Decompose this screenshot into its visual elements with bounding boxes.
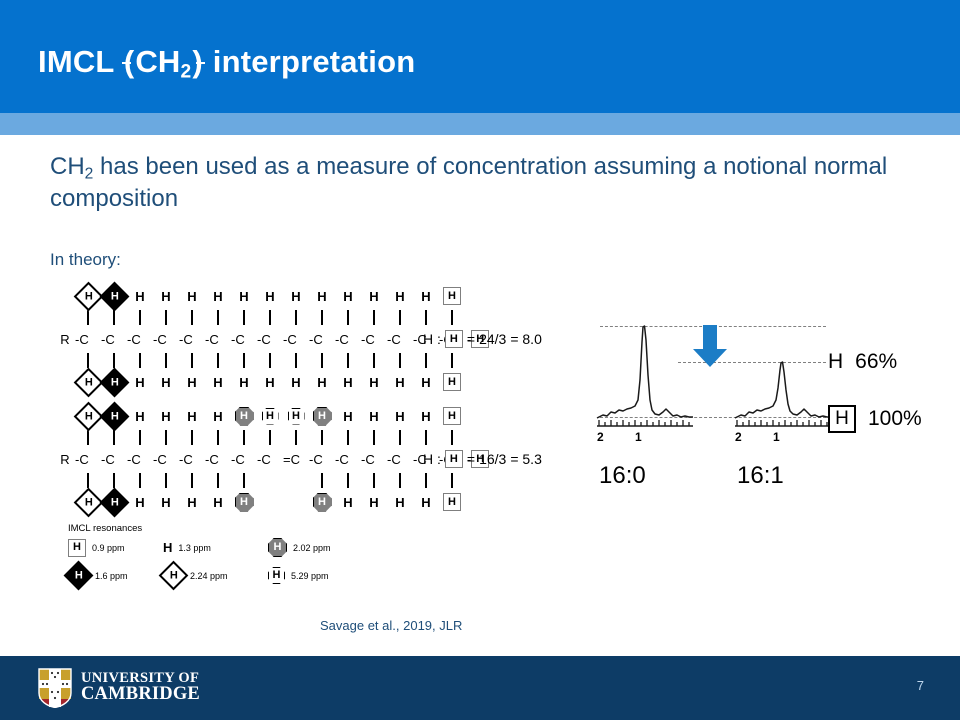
chain-bottom-hydrogen: H <box>361 489 387 515</box>
chain-top-hydrogen <box>75 403 101 429</box>
legend-item-label: 1.6 ppm <box>95 571 128 581</box>
chain-top-hydrogen: H <box>257 283 283 309</box>
chain-carbon: -C <box>153 326 179 352</box>
chain-vertical-bond <box>257 309 283 326</box>
chain-bottom-hydrogen: H <box>153 489 179 515</box>
legend-item: H0.9 ppm <box>68 538 163 557</box>
chain-carbon: -C <box>309 326 335 352</box>
chain-top-hydrogen: H <box>231 403 257 429</box>
h-marker-filled-diamond-icon <box>99 487 129 517</box>
molecule-figure: HHHHHHHHHHHHH R-C-C-C-C-C-C-C-C-C-C-C-C-… <box>55 283 555 513</box>
chain-r-group: R <box>55 446 75 472</box>
spectrum-trace-16-0 <box>595 320 695 438</box>
ratio-fraction: 16/3 <box>479 451 506 467</box>
chain-bottom-hydrogen <box>283 489 309 515</box>
h-marker-plain-icon: H <box>135 290 144 303</box>
h-marker-box-icon: H <box>828 405 856 433</box>
chain-vertical-bond <box>179 309 205 326</box>
h-marker-open-octagon-icon: H <box>288 408 305 425</box>
h-marker-plain-icon: H <box>213 410 222 423</box>
chain-top-hydrogen <box>101 403 127 429</box>
in-theory-label: In theory: <box>50 250 121 270</box>
chain-vertical-bond <box>413 352 439 369</box>
chain-bottom-hydrogen: H <box>179 369 205 395</box>
spectrum-trace-16-1 <box>733 320 833 438</box>
chain-top-hydrogen: H <box>413 403 439 429</box>
spectrum-16-0-tick-1: 1 <box>635 430 642 444</box>
h-marker-plain-icon: H <box>343 376 352 389</box>
h-marker-plain-icon: H <box>828 350 843 374</box>
chain-top-hydrogen: H <box>153 283 179 309</box>
h-marker-gray-octagon-icon: H <box>235 493 254 512</box>
imcl-resonances-legend: IMCL resonances H0.9 ppmH1.3 ppmH2.02 pp… <box>68 523 368 586</box>
h-marker-open-octagon-icon: H <box>268 567 285 584</box>
chain-vertical-bond <box>231 309 257 326</box>
chain-carbon: -C <box>127 446 153 472</box>
legend-item-label: 2.02 ppm <box>293 543 331 553</box>
university-line-2: CAMBRIDGE <box>81 686 200 704</box>
h-marker-plain-icon: H <box>187 410 196 423</box>
repeat-unit-open-paren: ( <box>123 44 136 80</box>
chain-bottom-hydrogen: H <box>127 489 153 515</box>
chain-r-group: R <box>55 326 75 352</box>
chain-bottom-hydrogen <box>75 489 101 515</box>
chain-vertical-bond <box>127 429 153 446</box>
h-marker-plain-icon: H <box>213 376 222 389</box>
h-marker-gray-octagon-icon: H <box>313 493 332 512</box>
chain-bottom-hydrogen: H <box>257 369 283 395</box>
chain-vertical-bond <box>153 472 179 489</box>
chain-carbon: -C <box>231 326 257 352</box>
chain-vertical-bond <box>283 472 309 489</box>
chain-vertical-bond <box>387 352 413 369</box>
chain-vertical-bond <box>283 429 309 446</box>
chain-carbon: -C <box>361 446 387 472</box>
annotation-66-percent: H 66% <box>828 350 897 374</box>
header-accent-band <box>0 113 960 135</box>
h-marker-plain-icon: H <box>213 496 222 509</box>
chain-top-hydrogen: H <box>231 283 257 309</box>
chain-vertical-bond <box>309 472 335 489</box>
legend-item: H5.29 ppm <box>268 565 368 586</box>
chain-bottom-hydrogen: H <box>309 369 335 395</box>
h-marker-plain-icon: H <box>291 290 300 303</box>
chain-bottom-hydrogen: H <box>153 369 179 395</box>
h-marker-plain-icon: H <box>265 290 274 303</box>
legend-item-label: 1.3 ppm <box>178 543 211 553</box>
chain-top-hydrogen: H <box>179 403 205 429</box>
chain2-top-hydrogens: HHHHHHHHHHHHH <box>55 403 491 429</box>
spectrum-16-0-label: 16:0 <box>599 462 646 490</box>
chain-vertical-bond <box>257 352 283 369</box>
chain-bottom-hydrogen: H <box>387 369 413 395</box>
chain-carbon: -C <box>361 326 387 352</box>
chain-vertical-bond <box>205 472 231 489</box>
h-marker-plain-icon: H <box>395 290 404 303</box>
chain-vertical-bond <box>387 309 413 326</box>
chain-vertical-bond <box>127 352 153 369</box>
annotation-100-value: 100% <box>868 407 922 431</box>
chain-top-hydrogen: H <box>283 283 309 309</box>
chain-bottom-hydrogen: H <box>283 369 309 395</box>
chain-carbon: -C <box>387 446 413 472</box>
legend-title: IMCL resonances <box>68 523 368 534</box>
h-marker-box-icon: H <box>443 287 461 305</box>
chain-bottom-hydrogen: H <box>387 489 413 515</box>
title-subscript: 2 <box>181 61 192 82</box>
chain-top-hydrogen: H <box>439 283 465 309</box>
h-marker-plain-icon: H <box>135 410 144 423</box>
chain-carbon: -C <box>257 446 283 472</box>
chain-vertical-bond <box>387 429 413 446</box>
h-marker-box-icon: H <box>443 493 461 511</box>
annotation-66-value: 66% <box>855 350 897 374</box>
chain-carbon: -C <box>153 446 179 472</box>
h-marker-gray-octagon-icon: H <box>268 538 287 557</box>
chain-vertical-bond <box>179 352 205 369</box>
chain-vertical-bond <box>335 352 361 369</box>
h-marker-filled-diamond-icon <box>99 401 129 431</box>
chain-carbon: -C <box>101 326 127 352</box>
ratio-fraction: 24/3 <box>479 331 506 347</box>
chain-vertical-bond <box>309 309 335 326</box>
chain-top-hydrogen: H <box>361 283 387 309</box>
h-marker-plain-icon: H <box>163 541 172 554</box>
citation: Savage et al., 2019, JLR <box>320 618 462 633</box>
chain2-bottom-hydrogens: HHHHHHHHHHH <box>55 489 491 515</box>
chain-bottom-hydrogen: H <box>335 369 361 395</box>
chain-bottom-hydrogen: H <box>439 369 465 395</box>
h-marker-gray-octagon-icon: H <box>313 407 332 426</box>
legend-item: 1.6 ppm <box>68 565 163 586</box>
h-marker-plain-icon: H <box>239 290 248 303</box>
h-marker-plain-icon: H <box>421 496 430 509</box>
chain-bottom-hydrogen <box>257 489 283 515</box>
chain-bottom-hydrogen: H <box>439 489 465 515</box>
chain-bottom-hydrogen: H <box>205 369 231 395</box>
chain-vertical-bond <box>413 472 439 489</box>
h-marker-plain-icon: H <box>317 376 326 389</box>
chain-top-hydrogen <box>75 283 101 309</box>
slide: IMCL (CH2) interpretation CH2 has been u… <box>0 0 960 720</box>
h-marker-plain-icon: H <box>161 496 170 509</box>
chain-top-hydrogen: H <box>335 283 361 309</box>
chain-vertical-bond <box>361 472 387 489</box>
cambridge-crest-icon <box>38 668 72 708</box>
chain-top-hydrogen: H <box>283 403 309 429</box>
chain-carbon: -C <box>101 446 127 472</box>
chain-top-hydrogen: H <box>153 403 179 429</box>
h-marker-plain-icon: H <box>187 290 196 303</box>
h-marker-plain-icon: H <box>395 496 404 509</box>
page-number: 7 <box>917 678 924 693</box>
h-marker-box-icon: H <box>68 539 86 557</box>
university-wordmark: UNIVERSITY OF CAMBRIDGE <box>81 672 200 704</box>
chain-bottom-hydrogen: H <box>335 489 361 515</box>
body-statement: CH2 has been used as a measure of concen… <box>50 152 900 215</box>
spectrum-16-1-label: 16:1 <box>737 462 784 490</box>
legend-grid: H0.9 ppmH1.3 ppmH2.02 ppm1.6 ppm2.24 ppm… <box>68 538 368 586</box>
h-marker-plain-icon: H <box>161 410 170 423</box>
spectrum-16-0-tick-2: 2 <box>597 430 604 444</box>
chain-carbon: -C <box>205 326 231 352</box>
chain-vertical-bond <box>205 429 231 446</box>
chain-bottom-hydrogen: H <box>413 369 439 395</box>
chain-vertical-bond <box>127 309 153 326</box>
chain-vertical-bond <box>439 352 465 369</box>
h-marker-plain-icon: H <box>369 410 378 423</box>
ratio-saturated: H : H = 24/3 = 8.0 <box>423 330 542 348</box>
title-prefix: IMCL <box>38 44 123 79</box>
legend-item-label: 5.29 ppm <box>291 571 329 581</box>
chain-carbon: -C <box>335 326 361 352</box>
spectra-figure: 2 1 16:0 2 1 16:1 H 66% H <box>585 312 955 512</box>
legend-item: 2.24 ppm <box>163 565 268 586</box>
h-marker-filled-diamond-icon <box>99 281 129 311</box>
body-lead-rest: has been used as a measure of concentrat… <box>50 153 887 212</box>
chain-vertical-bond <box>231 352 257 369</box>
chain-vertical-bond <box>153 429 179 446</box>
h-marker-gray-octagon-icon: H <box>235 407 254 426</box>
chain-vertical-bond <box>439 472 465 489</box>
chain-bottom-hydrogen: H <box>231 489 257 515</box>
chain-top-hydrogen <box>101 283 127 309</box>
ratio-result: = 5.3 <box>510 451 542 467</box>
h-marker-plain-icon: H <box>161 290 170 303</box>
university-logo: UNIVERSITY OF CAMBRIDGE <box>38 668 200 708</box>
chain-vertical-bond <box>283 352 309 369</box>
chain1-bottom-hydrogens: HHHHHHHHHHHHH <box>55 369 491 395</box>
h-marker-box-icon: H <box>445 450 463 468</box>
chain-carbon: -C <box>387 326 413 352</box>
h-marker-box-icon: H <box>445 330 463 348</box>
h-marker-plain-icon: H <box>161 376 170 389</box>
chain-top-hydrogen: H <box>335 403 361 429</box>
chain-top-hydrogen: H <box>439 403 465 429</box>
ratio-result: = 8.0 <box>510 331 542 347</box>
ratio-prefix: H : <box>423 451 441 467</box>
chain-vertical-bond <box>439 429 465 446</box>
ratio-equals: = <box>467 451 475 467</box>
chain-carbon: -C <box>75 446 101 472</box>
chain-vertical-bond <box>335 309 361 326</box>
chain-bottom-hydrogen <box>101 489 127 515</box>
chain-vertical-bond <box>309 429 335 446</box>
chain-vertical-bond <box>205 309 231 326</box>
ratio-equals: = <box>467 331 475 347</box>
chain-vertical-bond <box>179 429 205 446</box>
h-marker-plain-icon: H <box>369 290 378 303</box>
chain-top-hydrogen: H <box>361 403 387 429</box>
legend-item: H2.02 ppm <box>268 538 368 557</box>
ratio-unsaturated: H : H = 16/3 = 5.3 <box>423 450 542 468</box>
h-marker-plain-icon: H <box>135 496 144 509</box>
h-marker-plain-icon: H <box>187 496 196 509</box>
h-marker-plain-icon: H <box>421 290 430 303</box>
chain-vertical-bond <box>127 472 153 489</box>
chain-top-hydrogen: H <box>257 403 283 429</box>
annotation-100-percent: H 100% <box>828 405 922 433</box>
h-marker-filled-diamond-icon <box>64 561 94 591</box>
chain-top-hydrogen: H <box>205 283 231 309</box>
chain-carbon: -C <box>127 326 153 352</box>
chain-vertical-bond <box>361 352 387 369</box>
chain-bottom-hydrogen: H <box>179 489 205 515</box>
chain-vertical-bond <box>231 429 257 446</box>
chain-carbon: -C <box>231 446 257 472</box>
chain2-bottom-bonds <box>55 472 491 489</box>
title-group: CH <box>135 44 180 79</box>
chain-vertical-bond <box>153 309 179 326</box>
h-marker-plain-icon: H <box>343 410 352 423</box>
h-marker-plain-icon: H <box>239 376 248 389</box>
chain-carbon: -C <box>283 326 309 352</box>
chain-carbon: -C <box>335 446 361 472</box>
chain-carbon: -C <box>75 326 101 352</box>
spectrum-16-1-tick-1: 1 <box>773 430 780 444</box>
chain-vertical-bond <box>257 429 283 446</box>
h-marker-plain-icon: H <box>291 376 300 389</box>
chain-vertical-bond <box>361 309 387 326</box>
h-marker-plain-icon: H <box>421 410 430 423</box>
chain-carbon: -C <box>179 446 205 472</box>
chain-vertical-bond <box>413 429 439 446</box>
chain-bottom-hydrogen: H <box>127 369 153 395</box>
chain-vertical-bond <box>335 472 361 489</box>
h-marker-plain-icon: H <box>369 496 378 509</box>
chain-vertical-bond <box>205 352 231 369</box>
h-marker-plain-icon: H <box>395 410 404 423</box>
chain-carbon: -C <box>257 326 283 352</box>
legend-item: H1.3 ppm <box>163 538 268 557</box>
h-marker-plain-icon: H <box>395 376 404 389</box>
legend-item-label: 0.9 ppm <box>92 543 125 553</box>
chain-bottom-hydrogen <box>75 369 101 395</box>
h-marker-plain-icon: H <box>369 376 378 389</box>
body-lead-prefix: CH <box>50 153 85 180</box>
chain-bottom-hydrogen: H <box>231 369 257 395</box>
chain-vertical-bond <box>231 472 257 489</box>
chain-vertical-bond <box>387 472 413 489</box>
chain-bottom-hydrogen: H <box>361 369 387 395</box>
chain-carbon: =C <box>283 446 309 472</box>
chain-vertical-bond <box>153 352 179 369</box>
chain-bottom-hydrogen: H <box>413 489 439 515</box>
h-marker-open-diamond-icon <box>159 561 189 591</box>
h-marker-plain-icon: H <box>187 376 196 389</box>
chain-carbon: -C <box>309 446 335 472</box>
chain-vertical-bond <box>439 309 465 326</box>
h-marker-open-octagon-icon: H <box>262 408 279 425</box>
h-marker-plain-icon: H <box>317 290 326 303</box>
chain-vertical-bond <box>413 309 439 326</box>
h-marker-plain-icon: H <box>343 496 352 509</box>
chain-vertical-bond <box>283 309 309 326</box>
chain-vertical-bond <box>361 429 387 446</box>
h-marker-plain-icon: H <box>135 376 144 389</box>
ratio-prefix: H : <box>423 331 441 347</box>
chain-vertical-bond <box>179 472 205 489</box>
h-marker-plain-icon: H <box>265 376 274 389</box>
h-marker-plain-icon: H <box>343 290 352 303</box>
chain-carbon: -C <box>205 446 231 472</box>
spectrum-16-1-tick-2: 2 <box>735 430 742 444</box>
repeat-unit-close-paren: ) <box>191 44 204 80</box>
chain-vertical-bond <box>335 429 361 446</box>
chain-top-hydrogen: H <box>413 283 439 309</box>
chain-vertical-bond <box>309 352 335 369</box>
h-marker-plain-icon: H <box>213 290 222 303</box>
chain1-top-bonds <box>55 309 491 326</box>
h-marker-box-icon: H <box>443 407 461 425</box>
chain-top-hydrogen: H <box>179 283 205 309</box>
chain-top-hydrogen: H <box>127 283 153 309</box>
chain-top-hydrogen: H <box>309 403 335 429</box>
chain1-bottom-bonds <box>55 352 491 369</box>
chain2-top-bonds <box>55 429 491 446</box>
slide-title: IMCL (CH2) interpretation <box>38 44 415 83</box>
chain-bottom-hydrogen: H <box>309 489 335 515</box>
decrease-arrow-icon <box>690 325 730 367</box>
chain-bottom-hydrogen <box>101 369 127 395</box>
chain-vertical-bond <box>257 472 283 489</box>
chain1-top-hydrogens: HHHHHHHHHHHHH <box>55 283 491 309</box>
title-suffix: interpretation <box>204 44 415 79</box>
chain-top-hydrogen: H <box>309 283 335 309</box>
chain-top-hydrogen: H <box>387 283 413 309</box>
chain-top-hydrogen: H <box>205 403 231 429</box>
h-marker-filled-diamond-icon <box>99 367 129 397</box>
h-marker-box-icon: H <box>443 373 461 391</box>
chain-top-hydrogen: H <box>387 403 413 429</box>
legend-item-label: 2.24 ppm <box>190 571 228 581</box>
chain-carbon: -C <box>179 326 205 352</box>
chain-bottom-hydrogen: H <box>205 489 231 515</box>
h-marker-plain-icon: H <box>421 376 430 389</box>
chain-top-hydrogen: H <box>127 403 153 429</box>
